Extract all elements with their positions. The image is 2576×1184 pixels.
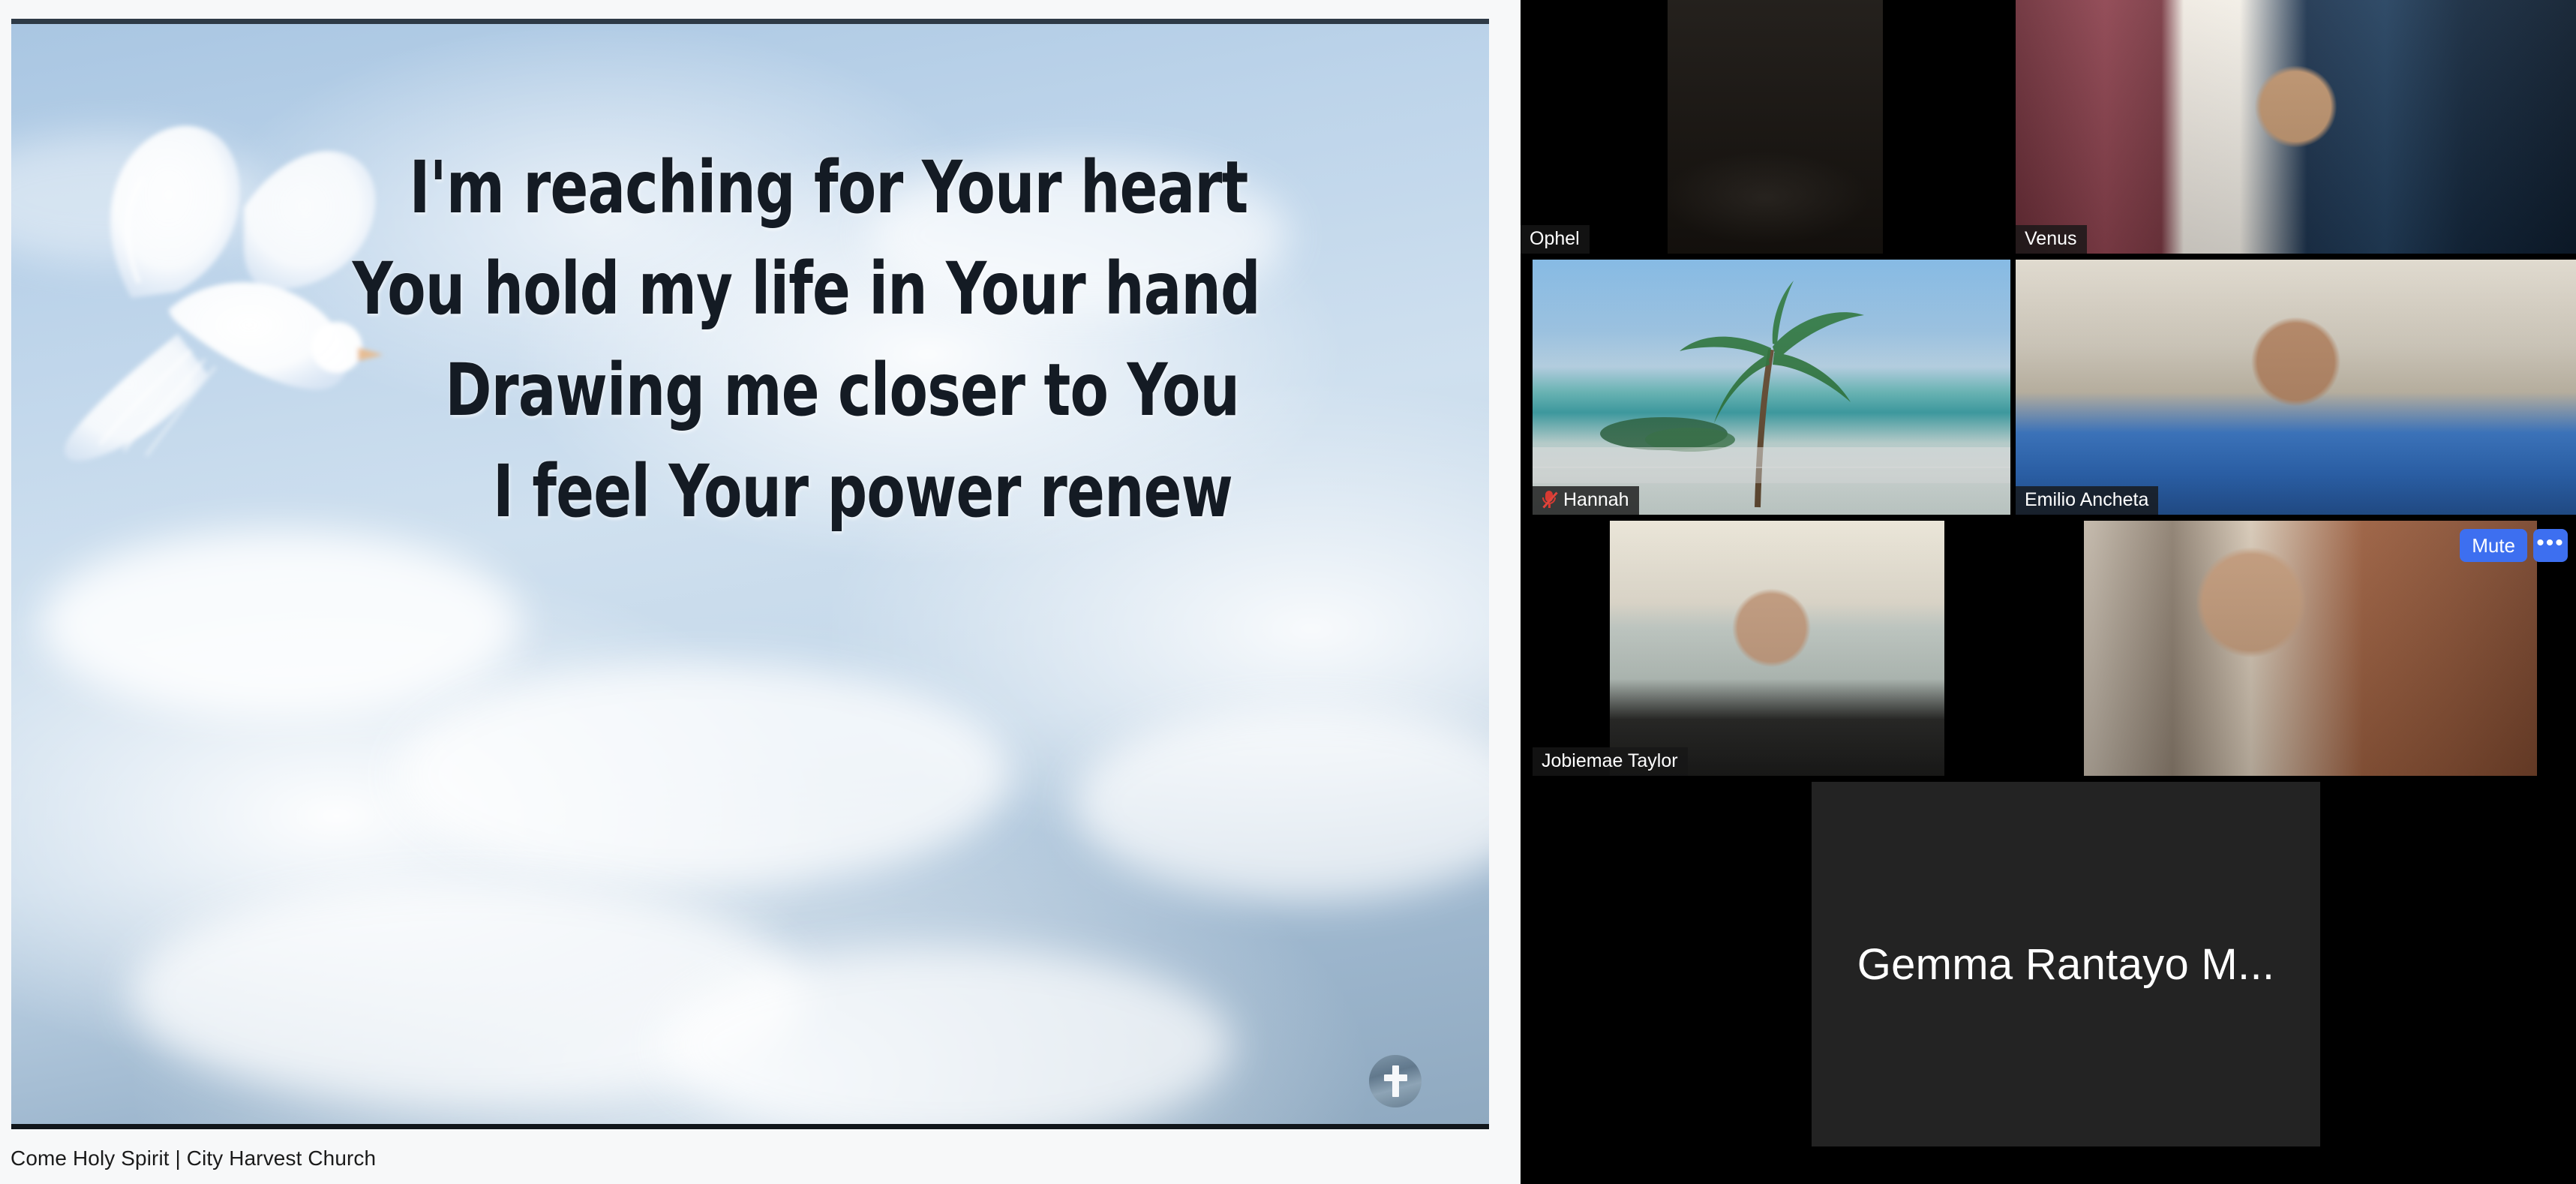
shared-slide[interactable]: I'm reaching for Your heart You hold my … — [11, 19, 1489, 1129]
lyric-line-2: You hold my life in Your hand — [353, 245, 1260, 333]
participant-name-text: Venus — [2025, 229, 2077, 250]
mute-button[interactable]: Mute — [2460, 529, 2527, 562]
participant-tile-hannah[interactable]: Hannah — [1533, 260, 2010, 515]
participant-name-label: Venus — [2016, 225, 2087, 254]
participant-tile-venus[interactable]: Venus — [2016, 0, 2576, 254]
participant-name-label: Jobiemae Taylor — [1533, 747, 1688, 777]
zoom-meeting-window: I'm reaching for Your heart You hold my … — [0, 0, 2576, 1184]
screen-share-pane: I'm reaching for Your heart You hold my … — [0, 0, 1521, 1184]
participant-tile-hovered[interactable]: Mute ••• — [2016, 521, 2576, 776]
tile-hover-controls: Mute ••• — [2460, 529, 2568, 562]
lyric-line-4: I feel Your power renew — [493, 448, 1232, 536]
participant-name-text: Emilio Ancheta — [2025, 490, 2148, 511]
participant-tile-gemma-rantayo[interactable]: Gemma Rantayo M... — [1812, 782, 2320, 1146]
participant-name-text: Ophel — [1530, 229, 1580, 250]
participant-tile-jobiemae-taylor[interactable]: Jobiemae Taylor — [1533, 521, 2010, 776]
slide-lyrics: I'm reaching for Your heart You hold my … — [11, 144, 1489, 536]
participant-name-label: Ophel — [1521, 225, 1590, 254]
participant-name-label: Emilio Ancheta — [2016, 486, 2158, 515]
participant-name-text: Jobiemae Taylor — [1542, 751, 1678, 772]
share-caption: Come Holy Spirit | City Harvest Church — [11, 1146, 376, 1170]
lyric-line-1: I'm reaching for Your heart — [410, 144, 1248, 232]
participant-tile-emilio-ancheta[interactable]: Emilio Ancheta — [2016, 260, 2576, 515]
lyric-line-3: Drawing me closer to You — [445, 347, 1239, 434]
participant-name-text: Hannah — [1563, 490, 1629, 511]
participant-name-text: Gemma Rantayo M... — [1857, 939, 2275, 990]
more-options-icon[interactable]: ••• — [2533, 529, 2568, 562]
participant-tile-ophel[interactable]: Ophel — [1521, 0, 2010, 254]
video-gallery: Ophel Venus — [1521, 0, 2576, 1184]
microphone-muted-icon — [1542, 490, 1557, 509]
participant-name-label: Hannah — [1533, 486, 1639, 515]
church-cross-logo-icon — [1369, 1055, 1422, 1107]
